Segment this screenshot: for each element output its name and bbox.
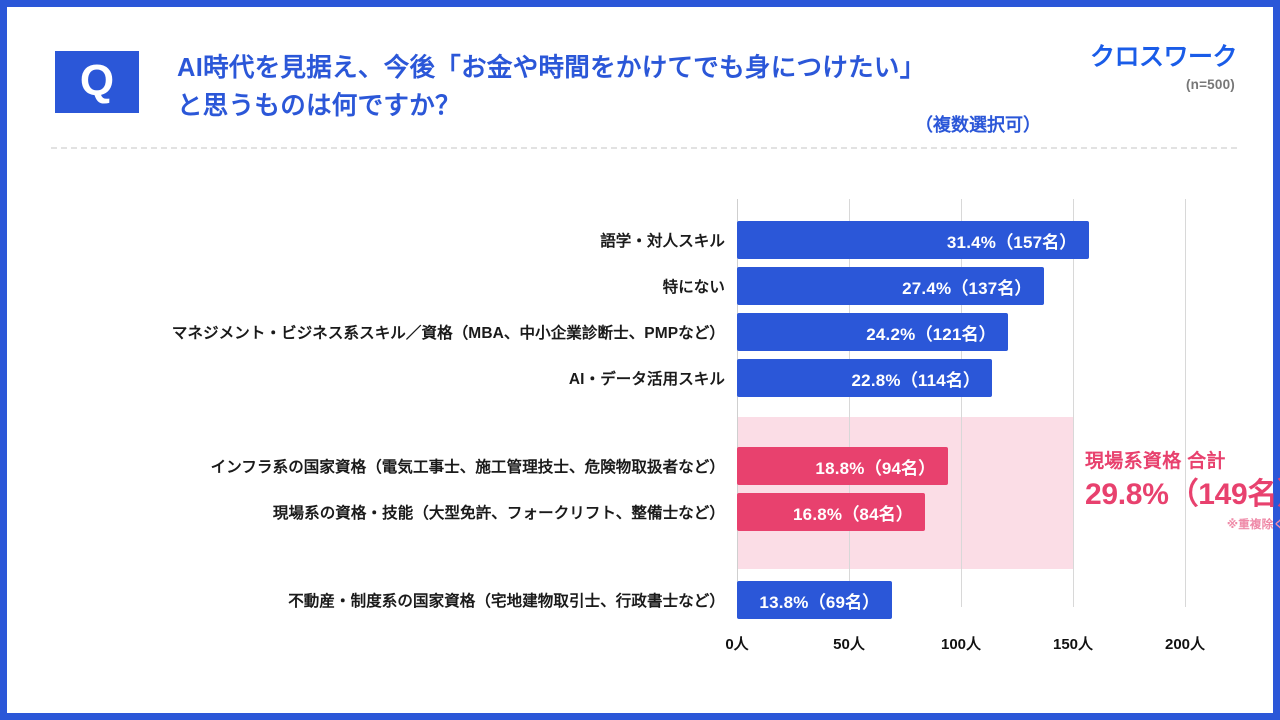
bar: 18.8%（94名） [737, 447, 948, 485]
category-label: 語学・対人スキル [600, 221, 737, 259]
gridline-150 [1073, 199, 1074, 607]
bar-value-label: 18.8%（94名） [815, 454, 947, 479]
bar: 13.8%（69名） [737, 581, 892, 619]
bar: 31.4%（157名） [737, 221, 1089, 259]
total-callout-note: ※重複除く [1085, 516, 1280, 532]
slide-frame: Q AI時代を見据え、今後「お金や時間をかけてでも身につけたい」 と思うものは何… [0, 0, 1280, 720]
x-tick-label: 0人 [725, 633, 748, 654]
category-label: 特にない [663, 267, 737, 305]
total-callout-value: 29.8%（149名） [1085, 475, 1280, 515]
x-tick-label: 200人 [1165, 633, 1205, 654]
header-divider [51, 147, 1237, 149]
bar-value-label: 24.2%（121名） [866, 320, 1008, 345]
total-callout: 現場系資格 合計29.8%（149名）※重複除く [1085, 449, 1280, 532]
gridline-50 [849, 199, 850, 607]
gridline-100 [961, 199, 962, 607]
bar-chart: 語学・対人スキル31.4%（157名）特にない27.4%（137名）マネジメント… [7, 187, 1273, 657]
bar-row: 特にない27.4%（137名） [737, 267, 1185, 305]
bar: 24.2%（121名） [737, 313, 1008, 351]
bar-value-label: 27.4%（137名） [902, 274, 1044, 299]
bar: 22.8%（114名） [737, 359, 992, 397]
bar-value-label: 31.4%（157名） [947, 228, 1089, 253]
bar-value-label: 16.8%（84名） [793, 500, 925, 525]
sample-size-label: (n=500) [1186, 77, 1235, 92]
bar-row: 語学・対人スキル31.4%（157名） [737, 221, 1185, 259]
header: Q AI時代を見据え、今後「お金や時間をかけてでも身につけたい」 と思うものは何… [55, 31, 1237, 141]
gridline-200 [1185, 199, 1186, 607]
x-tick-label: 50人 [833, 633, 865, 654]
category-label: 現場系の資格・技能（大型免許、フォークリフト、整備士など） [273, 493, 737, 531]
category-label: マネジメント・ビジネス系スキル／資格（MBA、中小企業診断士、PMPなど） [172, 313, 737, 351]
total-callout-heading: 現場系資格 合計 [1085, 449, 1280, 475]
bar-row: 不動産・制度系の国家資格（宅地建物取引士、行政書士など）13.8%（69名） [737, 581, 1185, 619]
multi-select-note: （複数選択可） [915, 111, 1041, 137]
category-label: AI・データ活用スキル [569, 359, 737, 397]
x-tick-label: 150人 [1053, 633, 1093, 654]
question-badge: Q [55, 51, 139, 113]
bar-row: AI・データ活用スキル22.8%（114名） [737, 359, 1185, 397]
category-label: 不動産・制度系の国家資格（宅地建物取引士、行政書士など） [288, 581, 737, 619]
plot-area: 語学・対人スキル31.4%（157名）特にない27.4%（137名）マネジメント… [737, 199, 1185, 629]
bar: 16.8%（84名） [737, 493, 925, 531]
slide-canvas: Q AI時代を見据え、今後「お金や時間をかけてでも身につけたい」 と思うものは何… [7, 7, 1273, 713]
category-label: インフラ系の国家資格（電気工事士、施工管理技士、危険物取扱者など） [211, 447, 737, 485]
page-title-line-1: AI時代を見据え、今後「お金や時間をかけてでも身につけたい」 [177, 49, 1107, 87]
x-tick-label: 100人 [941, 633, 981, 654]
brand-logo: クロスワーク [1090, 37, 1237, 73]
x-axis: 0人50人100人150人200人 [737, 629, 1185, 655]
bar-value-label: 22.8%（114名） [852, 366, 993, 391]
gridline-0 [737, 199, 738, 607]
bar-value-label: 13.8%（69名） [759, 588, 891, 613]
bar-row: マネジメント・ビジネス系スキル／資格（MBA、中小企業診断士、PMPなど）24.… [737, 313, 1185, 351]
bar: 27.4%（137名） [737, 267, 1044, 305]
